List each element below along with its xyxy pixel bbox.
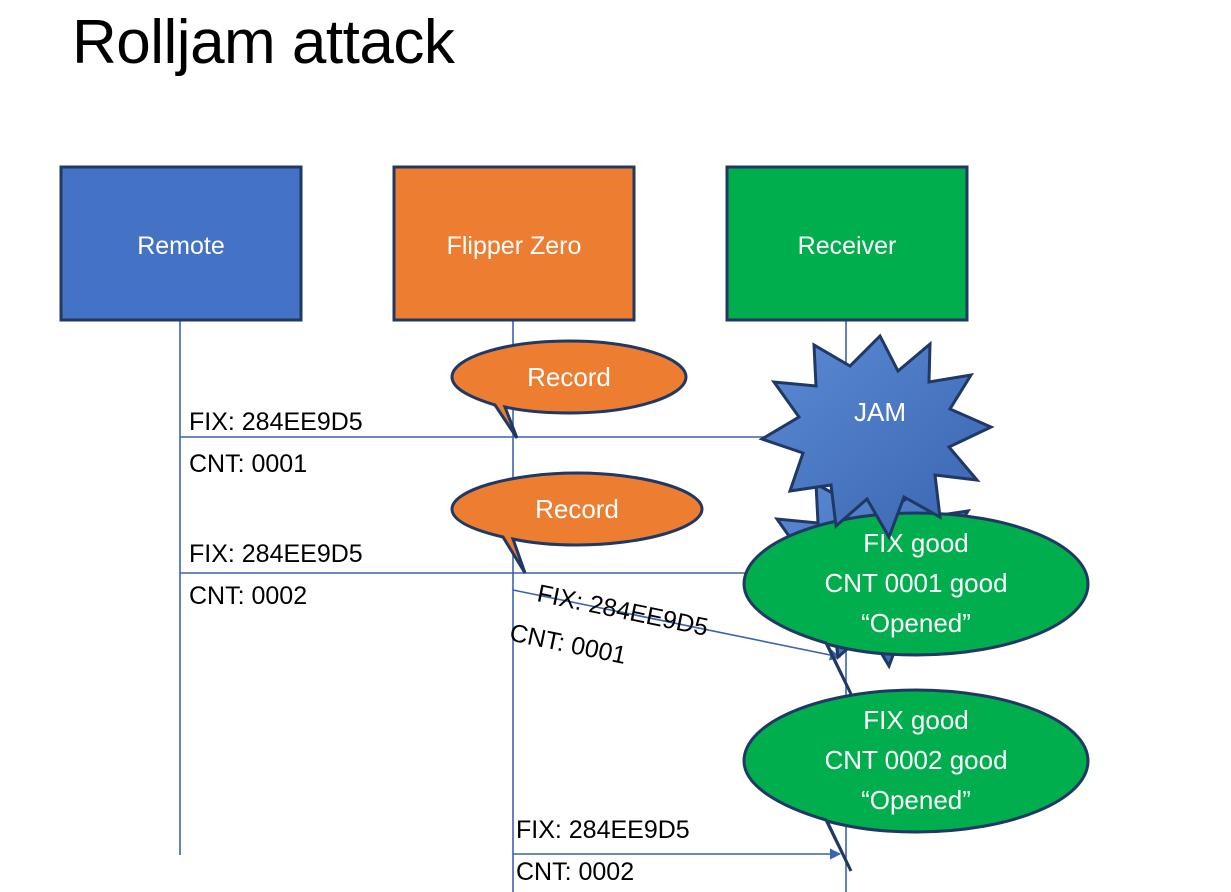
message-3-label-cnt: CNT: 0001 — [507, 619, 628, 670]
message-2-label-cnt: CNT: 0002 — [189, 582, 307, 610]
record-bubble-2[interactable]: Record — [452, 473, 702, 573]
actor-label-remote: Remote — [137, 232, 225, 260]
receiver-ack-bubble-2[interactable]: FIX good CNT 0002 good “Opened” — [744, 690, 1088, 871]
actor-box-remote[interactable]: Remote — [61, 167, 301, 320]
receiver-ack-1-line-3: “Opened” — [861, 608, 971, 638]
message-3-label-group: FIX: 284EE9D5 CNT: 0001 — [507, 576, 710, 685]
receiver-ack-2-line-2: CNT 0002 good — [824, 745, 1007, 775]
receiver-ack-bubble-1[interactable]: FIX good CNT 0001 good “Opened” — [744, 513, 1088, 694]
jam-label-1: JAM — [854, 397, 906, 427]
message-4-label-fix: FIX: 284EE9D5 — [516, 816, 690, 844]
rolljam-sequence-diagram: Remote Flipper Zero Receiver FIX good CN… — [0, 0, 1231, 892]
receiver-ack-2-line-1: FIX good — [863, 705, 969, 735]
actor-label-receiver: Receiver — [798, 232, 897, 260]
message-1-label-fix: FIX: 284EE9D5 — [189, 408, 363, 436]
message-1-label-cnt: CNT: 0001 — [189, 450, 307, 478]
receiver-ack-2-line-3: “Opened” — [861, 785, 971, 815]
message-2-label-fix: FIX: 284EE9D5 — [189, 540, 363, 568]
jam-starburst-1[interactable]: JAM — [762, 336, 991, 537]
actor-box-flipper[interactable]: Flipper Zero — [394, 167, 634, 320]
record-label-1: Record — [527, 362, 611, 392]
slide-canvas: Rolljam attack Remote Flipper Zero — [0, 0, 1231, 892]
record-bubble-1[interactable]: Record — [452, 341, 686, 438]
receiver-ack-1-line-2: CNT 0001 good — [824, 568, 1007, 598]
actor-label-flipper: Flipper Zero — [447, 232, 582, 260]
jam-starburst-1-shape — [762, 336, 991, 537]
actor-box-receiver[interactable]: Receiver — [727, 167, 967, 320]
receiver-ack-1-line-1: FIX good — [863, 528, 969, 558]
message-4-label-cnt: CNT: 0002 — [516, 858, 634, 886]
record-label-2: Record — [535, 494, 619, 524]
